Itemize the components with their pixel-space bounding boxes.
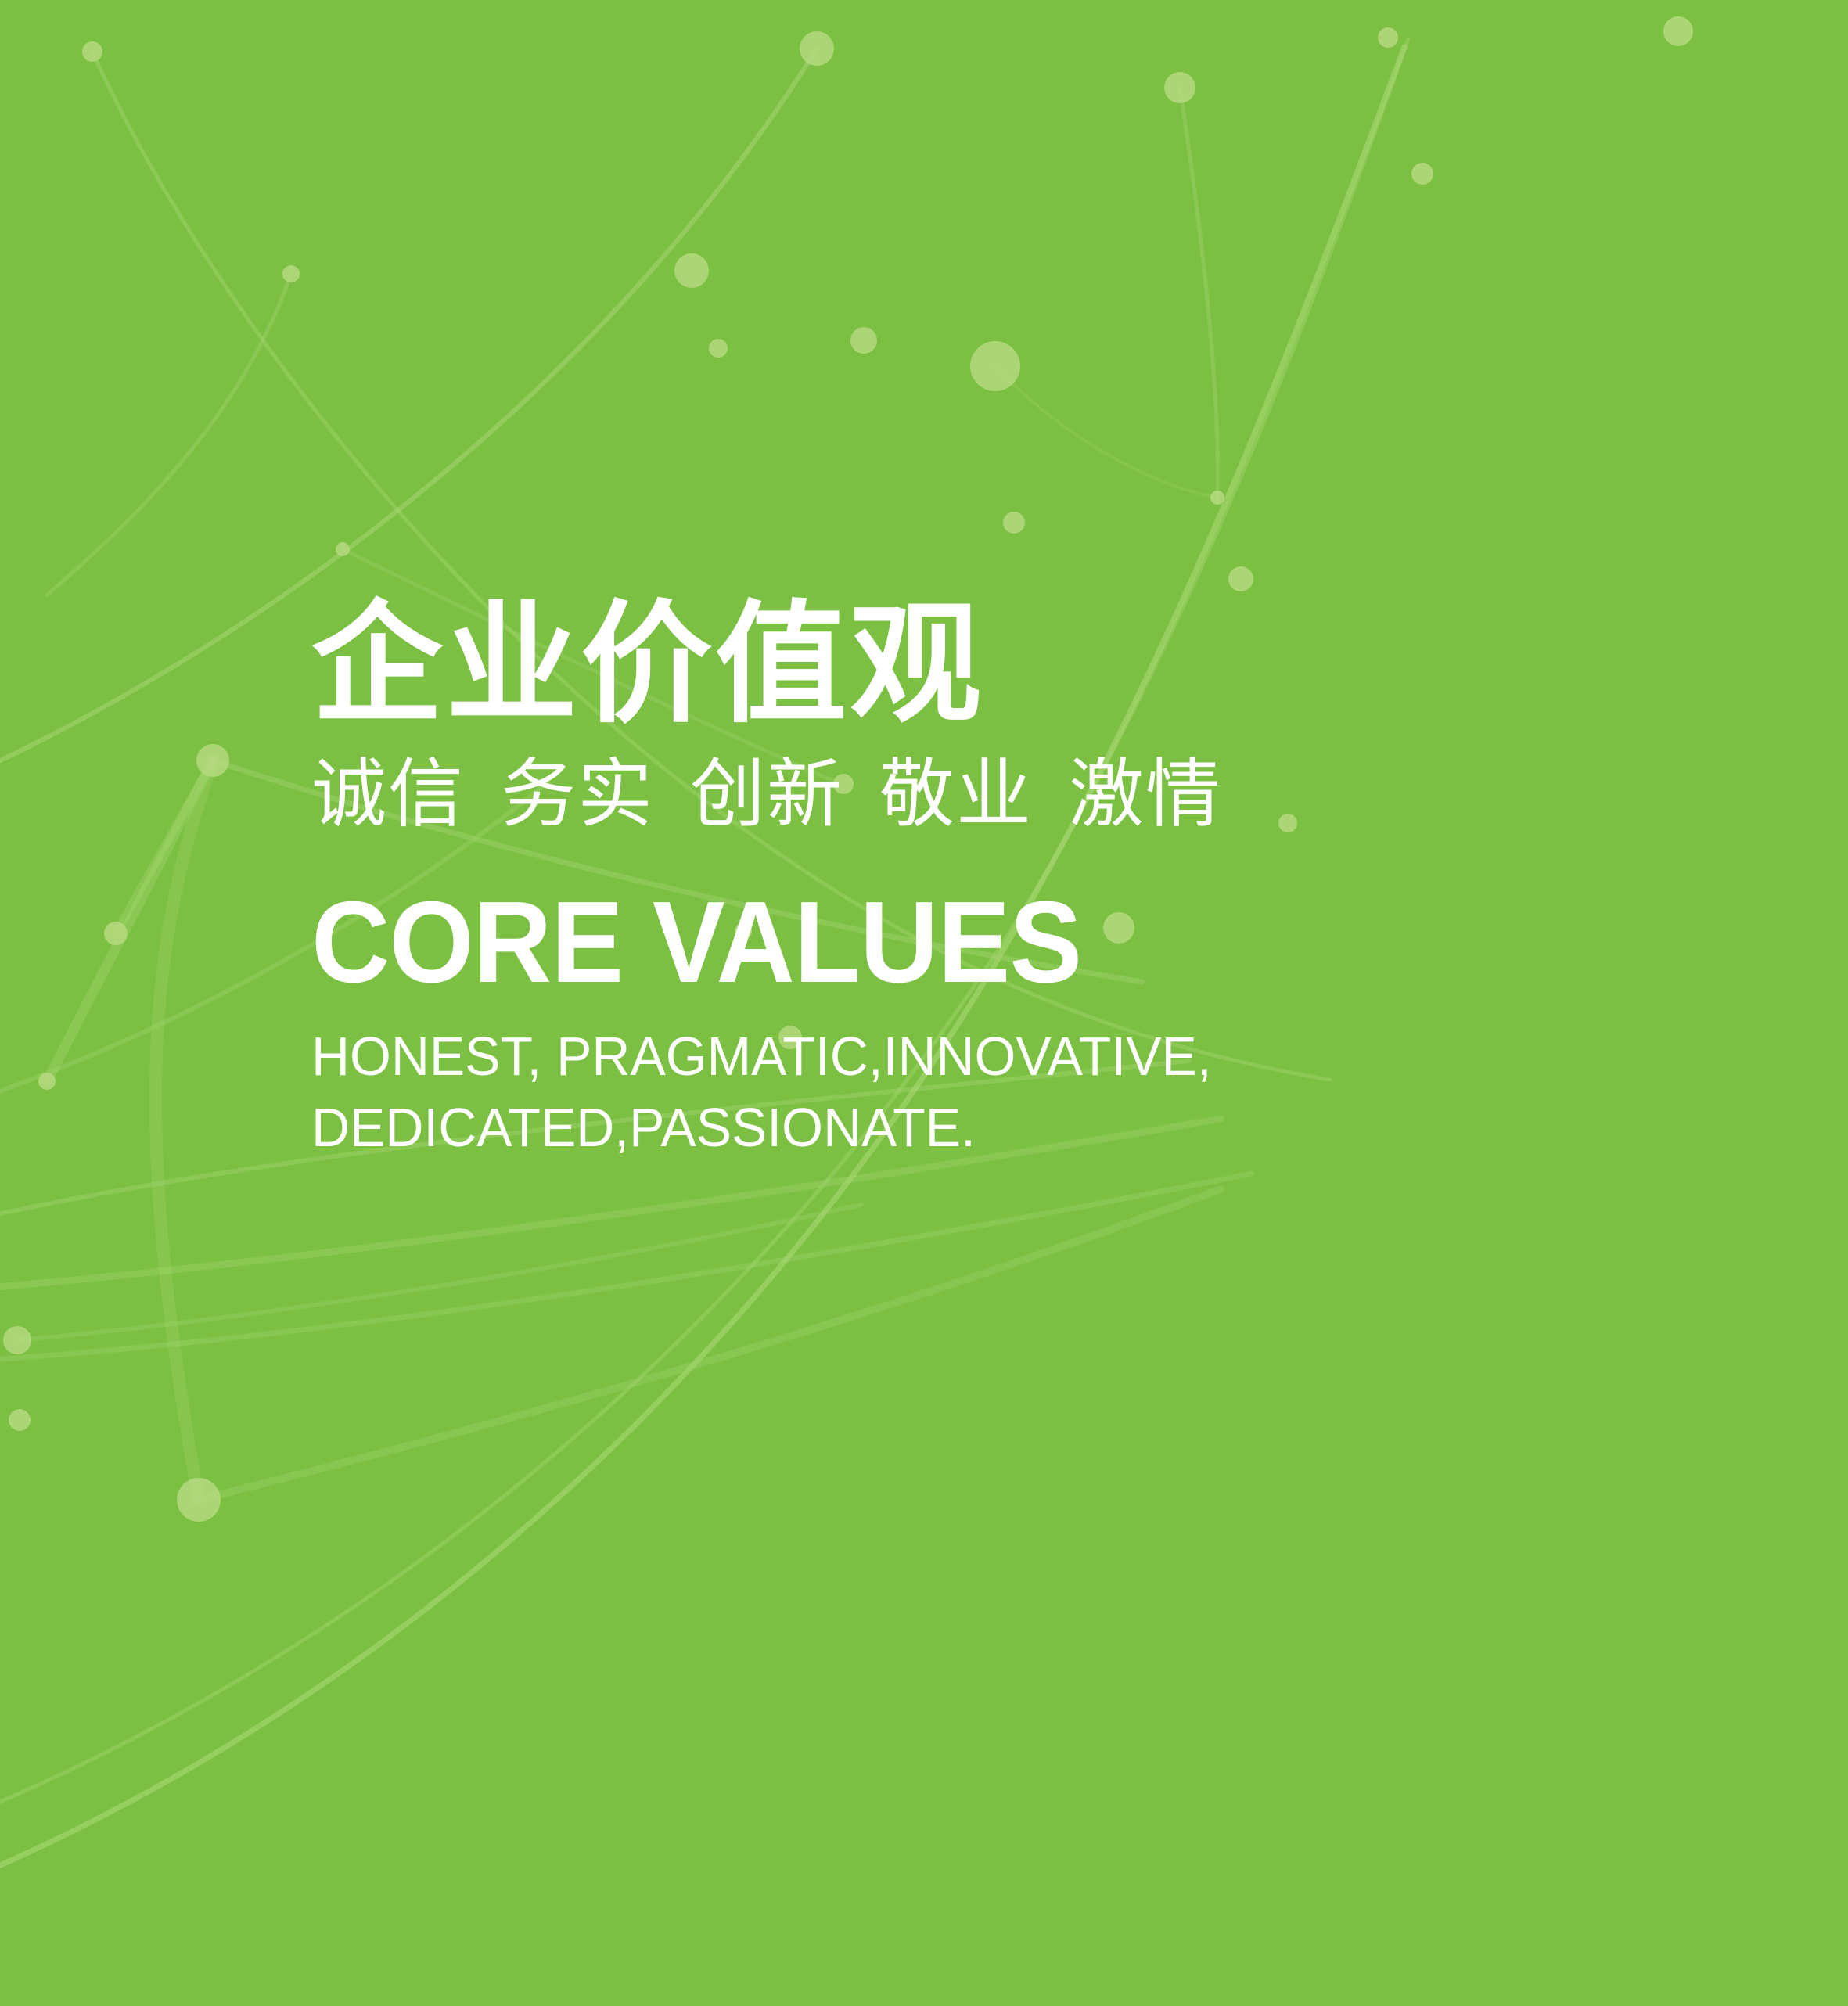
value-item-3: 创新: [690, 753, 843, 836]
network-node-dot: [1164, 72, 1195, 103]
network-node-dot: [177, 1478, 221, 1522]
network-node-dot: [1378, 27, 1398, 48]
value-item-2: 务实: [501, 753, 654, 836]
network-node-dot: [104, 922, 128, 945]
network-node-dot: [282, 265, 300, 282]
network-node-dot: [1228, 566, 1253, 591]
network-node-dot: [1411, 163, 1433, 185]
values-list-zh: 诚信务实创新敬业激情: [311, 751, 1704, 838]
network-node-dot: [709, 339, 728, 358]
network-node-dot: [674, 253, 709, 288]
network-node-dot: [1003, 512, 1025, 534]
network-node-dot: [336, 542, 350, 556]
network-node-dot: [38, 1073, 56, 1090]
values-en-line-2: DEDICATED,PASSIONATE.: [311, 1092, 1663, 1163]
values-list-en: HONEST, PRAGMATIC,INNOVATIVE, DEDICATED,…: [311, 1021, 1663, 1163]
values-en-line-1: HONEST, PRAGMATIC,INNOVATIVE,: [311, 1021, 1663, 1092]
network-node-dot: [1663, 16, 1693, 46]
page-title-zh: 企业价值观: [311, 595, 1704, 734]
network-node-dot: [3, 1326, 31, 1354]
value-item-1: 诚信: [311, 753, 465, 836]
network-node-dot: [850, 327, 877, 354]
network-node-dot: [9, 1409, 31, 1431]
value-item-4: 敬业: [879, 753, 1033, 836]
network-node-dot: [1210, 491, 1224, 505]
core-values-poster: 企业价值观 诚信务实创新敬业激情 CORE VALUES HONEST, PRA…: [0, 0, 1848, 2006]
network-node-dot: [196, 744, 229, 777]
network-node-dot: [82, 41, 102, 62]
network-node-dot: [800, 31, 834, 66]
page-title-en: CORE VALUES: [311, 885, 1620, 1001]
network-node-dot: [970, 341, 1020, 391]
headline-block: 企业价值观 诚信务实创新敬业激情 CORE VALUES HONEST, PRA…: [311, 595, 1704, 1163]
value-item-5: 激情: [1069, 753, 1222, 836]
